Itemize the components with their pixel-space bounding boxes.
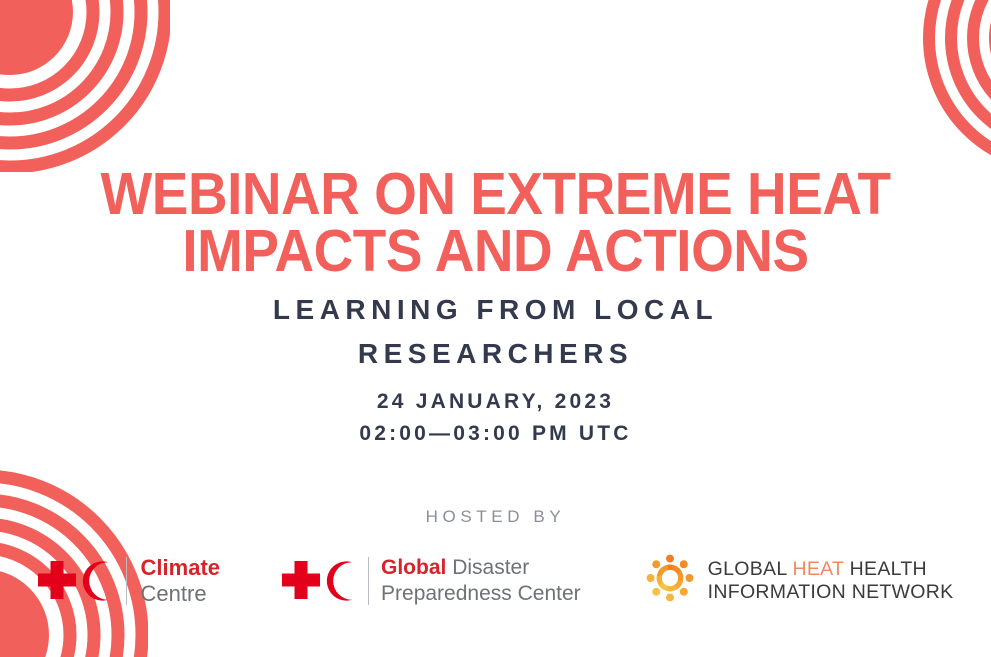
logo-gdpc-line1-rest: Disaster: [446, 556, 529, 579]
concentric-rings-top-left-decoration: [0, 0, 170, 172]
global-heat-health-sun-people-icon: [643, 551, 697, 610]
host-logos: Climate Centre Global Disaster Preparedn…: [0, 543, 991, 618]
logo-ghhin-wordmark: GLOBAL HEAT HEALTH INFORMATION NETWORK: [708, 558, 954, 604]
logo-ghhin-line2: INFORMATION NETWORK: [708, 581, 954, 604]
logo-ghhin-line1: GLOBAL HEAT HEALTH: [708, 558, 954, 581]
logo-gdpc-line2: Preparedness Center: [381, 581, 581, 607]
logo-ghhin-global: GLOBAL: [708, 558, 793, 580]
logo-gdpc-line1: Global Disaster: [381, 555, 581, 581]
red-cross-red-crescent-icon: [282, 559, 354, 603]
logo-climate-centre-line2: Centre: [141, 581, 220, 607]
logo-ghhin: GLOBAL HEAT HEALTH INFORMATION NETWORK: [643, 551, 954, 610]
logo-climate-centre-wordmark: Climate Centre: [141, 555, 220, 607]
logo-ghhin-heat: HEAT: [792, 558, 843, 580]
hosted-by-label: HOSTED BY: [0, 507, 991, 527]
logo-climate-centre-line1: Climate: [141, 555, 220, 581]
concentric-rings-top-right-decoration: [908, 0, 991, 188]
logo-gdpc-wordmark: Global Disaster Preparedness Center: [381, 555, 581, 607]
logo-gdpc: Global Disaster Preparedness Center: [282, 555, 581, 607]
event-datetime: 24 JANUARY, 2023 02:00—03:00 PM UTC: [0, 386, 991, 450]
logo-gdpc-accent: Global: [381, 556, 446, 579]
subtitle: LEARNING FROM LOCAL RESEARCHERS: [0, 288, 991, 376]
page-title: WEBINAR ON EXTREME HEAT IMPACTS AND ACTI…: [35, 166, 957, 280]
logo-ghhin-health: HEALTH: [844, 558, 927, 580]
logo-climate-centre: Climate Centre: [38, 555, 220, 607]
logo-divider: [126, 557, 127, 605]
red-cross-red-crescent-icon: [38, 559, 110, 603]
logo-divider: [368, 557, 369, 605]
webinar-poster: WEBINAR ON EXTREME HEAT IMPACTS AND ACTI…: [0, 0, 991, 657]
